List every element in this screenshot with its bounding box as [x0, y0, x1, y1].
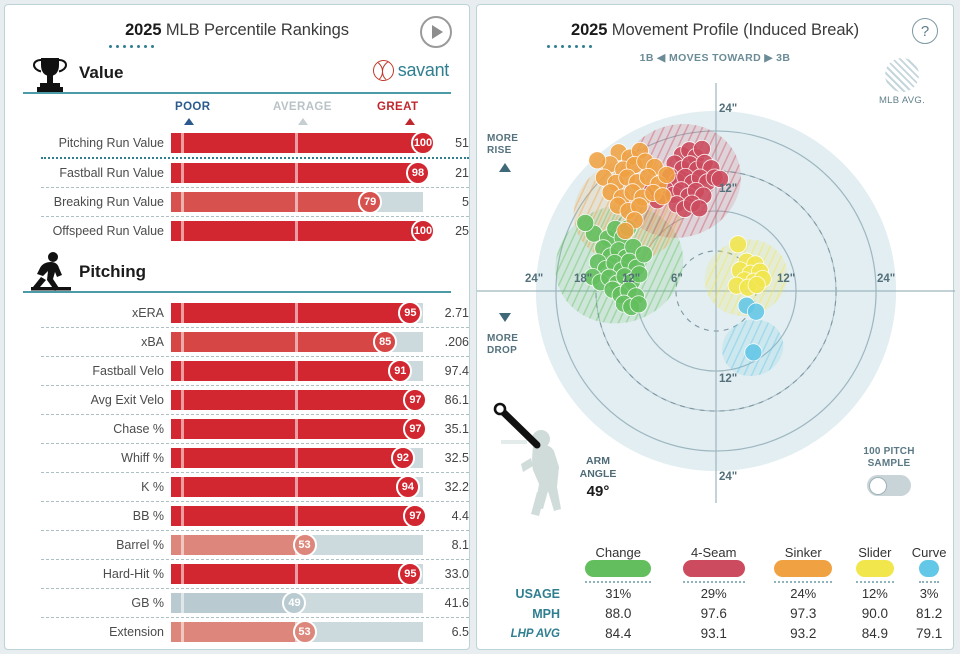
percentile-fill: [171, 303, 410, 323]
percentile-rankings-card: 2025 MLB Percentile Rankings Value: [4, 4, 470, 650]
percentile-badge: 95: [398, 301, 422, 325]
percentile-row-value: 32.5: [423, 451, 469, 465]
legend-usage-value: 29%: [667, 585, 760, 601]
percentile-fill: [171, 477, 408, 497]
track-notch-poor: [181, 564, 184, 584]
percentile-track: 98: [171, 163, 423, 183]
percentile-row-value: 86.1: [423, 393, 469, 407]
percentile-row-value: 35.1: [423, 422, 469, 436]
legend-dash: [667, 577, 760, 585]
percentile-row-label: Hard-Hit %: [5, 567, 171, 581]
question-mark-icon[interactable]: ?: [912, 18, 938, 44]
track-notch-average: [295, 192, 298, 212]
percentile-row-label: K %: [5, 480, 171, 494]
percentile-track: 85: [171, 332, 423, 352]
percentile-row[interactable]: Pitching Run Value10051: [5, 129, 469, 157]
ring-label-left-18: 18": [574, 273, 592, 285]
percentile-row[interactable]: Avg Exit Velo9786.1: [5, 386, 469, 414]
pitch-legend-table: Change4-SeamSinkerSliderCurve USAGE31%29…: [477, 545, 955, 641]
pitcher-icon: [27, 249, 73, 295]
percentile-row-value: 5: [423, 195, 469, 209]
legend-lhpavg-value: 84.4: [569, 621, 667, 641]
percentile-badge: 53: [293, 620, 317, 644]
percentile-track: 79: [171, 192, 423, 212]
legend-mph-value: 97.3: [760, 601, 847, 621]
legend-pitch-name[interactable]: 4-Seam: [667, 545, 760, 560]
ring-label-right-12: 12": [777, 273, 795, 285]
percentile-row-label: Chase %: [5, 422, 171, 436]
rise-arrow-icon: [499, 163, 511, 172]
track-notch-average: [295, 564, 298, 584]
track-notch-poor: [181, 303, 184, 323]
percentile-row[interactable]: Barrel %538.1: [5, 531, 469, 559]
movement-title-text: Movement Profile (Induced Break): [607, 21, 859, 39]
percentile-fill: [171, 192, 370, 212]
percentile-track: 97: [171, 506, 423, 526]
percentile-track: 92: [171, 448, 423, 468]
title-dots-right: [547, 45, 953, 48]
toggle-knob[interactable]: [869, 477, 887, 495]
section-header-value: Value savant: [23, 60, 451, 94]
percentile-row-value: .206: [423, 335, 469, 349]
track-notch-poor: [181, 361, 184, 381]
percentile-card-title: 2025 MLB Percentile Rankings: [5, 5, 469, 40]
section-rule-2: [23, 291, 451, 294]
track-notch-poor: [181, 419, 184, 439]
track-notch-average: [295, 448, 298, 468]
ring-label-right-24: 24": [877, 273, 895, 285]
percentile-fill: [171, 622, 305, 642]
track-notch-poor: [181, 477, 184, 497]
play-icon[interactable]: [420, 16, 452, 48]
legend-lhpavg-value: 93.1: [667, 621, 760, 641]
percentile-badge: 98: [406, 161, 430, 185]
percentile-badge: 97: [403, 504, 427, 528]
percentile-row-label: xBA: [5, 335, 171, 349]
percentile-row[interactable]: K %9432.2: [5, 473, 469, 501]
percentile-badge: 85: [373, 330, 397, 354]
percentile-row-value: 97.4: [423, 364, 469, 378]
percentile-badge: 91: [388, 359, 412, 383]
legend-usage-value: 31%: [569, 585, 667, 601]
percentile-row[interactable]: GB %4941.6: [5, 589, 469, 617]
percentile-row-value: 32.2: [423, 480, 469, 494]
more-rise-label: MORERISE: [487, 133, 518, 157]
percentile-track: 53: [171, 622, 423, 642]
percentile-track: 97: [171, 419, 423, 439]
percentile-row-value: 2.71: [423, 306, 469, 320]
legend-lhpavg-value: 84.9: [847, 621, 904, 641]
track-notch-poor: [181, 622, 184, 642]
legend-usage-value: 24%: [760, 585, 847, 601]
percentile-track: 97: [171, 390, 423, 410]
arm-angle-figure: ARMANGLE 49°: [489, 400, 639, 525]
drop-arrow-icon: [499, 313, 511, 322]
section-title-value: Value: [79, 63, 123, 83]
legend-mph-value: 81.2: [903, 601, 955, 621]
legend-table: Change4-SeamSinkerSliderCurve USAGE31%29…: [477, 545, 955, 641]
sample-toggle-label: 100 PITCHSAMPLE: [843, 446, 935, 470]
percentile-badge: 100: [411, 131, 435, 155]
legend-lhp-row: LHP AVG84.493.193.284.979.1: [477, 621, 955, 641]
scale-label-average: AVERAGE: [273, 101, 332, 113]
legend-pitch-name[interactable]: Curve: [903, 545, 955, 560]
ring-label-top-24: 24": [719, 103, 737, 115]
sample-toggle-group[interactable]: 100 PITCHSAMPLE: [843, 446, 935, 496]
trophy-icon: [27, 50, 73, 96]
percentile-row-value: 33.0: [423, 567, 469, 581]
legend-dash-row: [477, 577, 955, 585]
sample-toggle-switch[interactable]: [867, 475, 911, 496]
legend-dash: [903, 577, 955, 585]
ring-label-top-12: 12": [719, 183, 737, 195]
track-notch-poor: [181, 593, 184, 613]
ring-label-left-6: 6": [671, 273, 683, 285]
track-notch-poor: [181, 221, 184, 241]
percentile-badge: 97: [403, 388, 427, 412]
arm-angle-value: 49°: [572, 483, 624, 500]
percentile-row[interactable]: BB %974.4: [5, 502, 469, 530]
ring-label-bottom-12: 12": [719, 373, 737, 385]
percentile-row[interactable]: Extension536.5: [5, 618, 469, 646]
scale-marker-poor: [184, 118, 194, 125]
percentile-row[interactable]: Hard-Hit %9533.0: [5, 560, 469, 588]
track-notch-average: [295, 477, 298, 497]
track-notch-average: [295, 163, 298, 183]
percentile-badge: 97: [403, 417, 427, 441]
percentile-track: 95: [171, 303, 423, 323]
percentile-row[interactable]: xBA85.206: [5, 328, 469, 356]
percentile-row[interactable]: Whiff %9232.5: [5, 444, 469, 472]
percentile-badge: 92: [391, 446, 415, 470]
pitching-rows: xERA952.71xBA85.206Fastball Velo9197.4Av…: [5, 299, 469, 646]
legend-pitch-name[interactable]: Sinker: [760, 545, 847, 560]
track-notch-average: [295, 506, 298, 526]
track-notch-average: [295, 332, 298, 352]
percentile-fill: [171, 361, 400, 381]
percentile-track: 94: [171, 477, 423, 497]
track-notch-poor: [181, 390, 184, 410]
legend-dash: [760, 577, 847, 585]
scale-marker-great: [405, 118, 415, 125]
percentile-row-label: Fastball Velo: [5, 364, 171, 378]
percentile-row-label: Barrel %: [5, 538, 171, 552]
movement-title-year: 2025: [571, 21, 607, 39]
legend-mph-value: 97.6: [667, 601, 760, 621]
track-notch-poor: [181, 163, 184, 183]
title-dots-left: [109, 45, 469, 48]
legend-row-label-usage: USAGE: [477, 585, 569, 601]
percentile-fill: [171, 593, 294, 613]
scale-label-poor: POOR: [175, 101, 210, 113]
percentile-row-label: xERA: [5, 306, 171, 320]
percentile-row-label: Pitching Run Value: [5, 136, 171, 150]
legend-mph-value: 88.0: [569, 601, 667, 621]
legend-dash: [569, 577, 667, 585]
legend-pill-row: [477, 560, 955, 577]
track-notch-average: [295, 221, 298, 241]
section-header-pitching: Pitching: [23, 259, 451, 293]
track-notch-poor: [181, 332, 184, 352]
legend-pitch-swatch: [569, 560, 667, 577]
arm-angle-label: ARMANGLE: [572, 455, 624, 481]
legend-usage-value: 12%: [847, 585, 904, 601]
ring-label-left-12: 12": [622, 273, 640, 285]
baseball-icon: [373, 60, 394, 81]
percentile-badge: 95: [398, 562, 422, 586]
player-card-page: 2025 MLB Percentile Rankings Value: [0, 0, 960, 654]
percentile-fill: [171, 448, 403, 468]
percentile-track: 95: [171, 564, 423, 584]
percentile-badge: 53: [293, 533, 317, 557]
legend-mph-row: MPH88.097.697.390.081.2: [477, 601, 955, 621]
movement-profile-card: 2025 Movement Profile (Induced Break) ? …: [476, 4, 954, 650]
percentile-track: 91: [171, 361, 423, 381]
scale-header: POOR AVERAGE GREAT: [5, 101, 469, 129]
percentile-row-value: 8.1: [423, 538, 469, 552]
ring-label-bottom-24: 24": [719, 471, 737, 483]
track-notch-poor: [181, 506, 184, 526]
percentile-track: 100: [171, 133, 423, 153]
legend-pitch-name[interactable]: Change: [569, 545, 667, 560]
percentile-row[interactable]: Fastball Run Value9821: [5, 159, 469, 187]
percentile-row[interactable]: Breaking Run Value795: [5, 188, 469, 216]
percentile-track: 53: [171, 535, 423, 555]
percentile-row-value: 41.6: [423, 596, 469, 610]
value-rows: Pitching Run Value10051Fastball Run Valu…: [5, 129, 469, 245]
percentile-row[interactable]: Chase %9735.1: [5, 415, 469, 443]
percentile-fill: [171, 535, 305, 555]
percentile-badge: 49: [282, 591, 306, 615]
legend-row-label-mph: MPH: [477, 601, 569, 621]
percentile-row-label: Breaking Run Value: [5, 195, 171, 209]
track-notch-poor: [181, 448, 184, 468]
percentile-badge: 94: [396, 475, 420, 499]
ring-label-left-24: 24": [525, 273, 543, 285]
movement-card-title: 2025 Movement Profile (Induced Break): [477, 5, 953, 40]
percentile-row[interactable]: xERA952.71: [5, 299, 469, 327]
section-rule: [23, 92, 451, 95]
track-notch-poor: [181, 535, 184, 555]
percentile-title-text: MLB Percentile Rankings: [161, 21, 348, 39]
track-notch-average: [295, 303, 298, 323]
track-notch-average: [295, 390, 298, 410]
scale-label-great: GREAT: [377, 101, 418, 113]
track-notch-poor: [181, 133, 184, 153]
savant-logo: savant: [373, 60, 449, 81]
savant-wordmark: savant: [398, 60, 449, 81]
percentile-row-label: Whiff %: [5, 451, 171, 465]
section-title-pitching: Pitching: [79, 262, 146, 282]
percentile-title-year: 2025: [125, 21, 161, 39]
legend-pitch-swatch: [903, 560, 955, 577]
percentile-fill: [171, 506, 415, 526]
legend-usage-row: USAGE31%29%24%12%3%: [477, 585, 955, 601]
track-notch-average: [295, 361, 298, 381]
percentile-fill: [171, 332, 385, 352]
legend-usage-value: 3%: [903, 585, 955, 601]
percentile-track: 100: [171, 221, 423, 241]
track-notch-average: [295, 419, 298, 439]
percentile-row-value: 4.4: [423, 509, 469, 523]
percentile-track: 49: [171, 593, 423, 613]
percentile-fill: [171, 390, 415, 410]
percentile-row[interactable]: Offspeed Run Value10025: [5, 217, 469, 245]
percentile-fill: [171, 564, 410, 584]
legend-mph-value: 90.0: [847, 601, 904, 621]
percentile-row-label: GB %: [5, 596, 171, 610]
legend-pitch-swatch: [667, 560, 760, 577]
track-notch-average: [295, 133, 298, 153]
legend-row-label-lhpavg: LHP AVG: [477, 621, 569, 641]
percentile-row-label: Extension: [5, 625, 171, 639]
track-notch-poor: [181, 192, 184, 212]
legend-lhpavg-value: 79.1: [903, 621, 955, 641]
legend-pitch-name[interactable]: Slider: [847, 545, 904, 560]
legend-pitch-swatch: [847, 560, 904, 577]
percentile-fill: [171, 419, 415, 439]
legend-pitch-swatch: [760, 560, 847, 577]
percentile-row[interactable]: Fastball Velo9197.4: [5, 357, 469, 385]
percentile-row-label: Avg Exit Velo: [5, 393, 171, 407]
scale-marker-average: [298, 118, 308, 125]
more-drop-label: MOREDROP: [487, 333, 518, 357]
percentile-row-label: BB %: [5, 509, 171, 523]
percentile-row-label: Offspeed Run Value: [5, 224, 171, 238]
percentile-badge: 79: [358, 190, 382, 214]
legend-name-row: Change4-SeamSinkerSliderCurve: [477, 545, 955, 560]
legend-lhpavg-value: 93.2: [760, 621, 847, 641]
percentile-badge: 100: [411, 219, 435, 243]
percentile-row-value: 6.5: [423, 625, 469, 639]
percentile-row-label: Fastball Run Value: [5, 166, 171, 180]
legend-dash: [847, 577, 904, 585]
